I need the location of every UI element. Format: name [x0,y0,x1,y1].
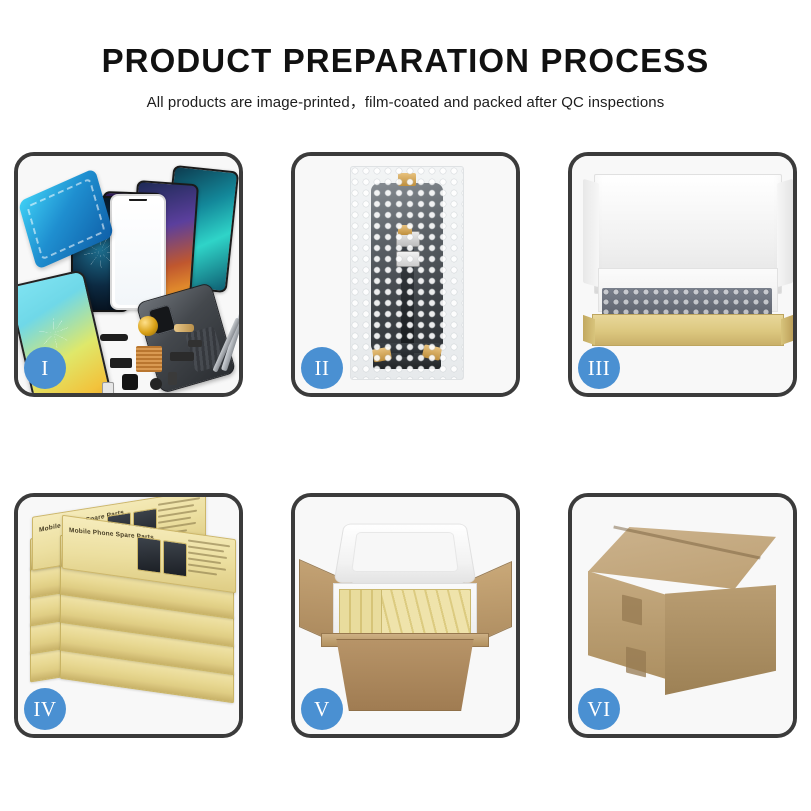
step-badge-4: IV [24,688,66,730]
speaker-part-icon [100,334,128,341]
bubble-texture-overlay [351,167,463,379]
page-title: PRODUCT PREPARATION PROCESS [0,44,811,79]
carton-right-face-icon [665,585,776,695]
sim-tray-part-icon [102,382,114,393]
camera-module-part-icon [122,374,138,390]
box-product-photo-front-2 [163,540,187,577]
bracket-part-icon [188,340,202,347]
carton-front-panel-icon [327,639,483,711]
process-step-panel-3: III [568,152,797,397]
phone-back-housing-icon [136,282,237,393]
step-badge-1: I [24,347,66,389]
process-step-panel-4: Mobile Phone Spare Parts Mobile Phone Sp… [14,493,243,738]
foam-lid-icon [333,524,476,583]
step-badge-5: V [301,688,343,730]
process-step-panel-1: I [14,152,243,397]
box-spec-lines-front [188,539,230,585]
page-subtitle: All products are image-printed，film-coat… [0,91,811,112]
carton-tape-lower-icon [626,647,646,678]
step-badge-6: VI [578,688,620,730]
kraft-box-base-icon [592,314,784,346]
camera-lens-part-icon [138,316,158,336]
flex-cable-part-icon [110,358,132,368]
process-step-panel-6: VI [568,493,797,738]
antenna-part-icon [170,352,194,361]
process-step-panel-5: V [291,493,520,738]
screw-part-icon [168,372,177,385]
process-step-panel-2: II [291,152,520,397]
retail-box-stack: Mobile Phone Spare Parts Mobile Phone Sp… [30,517,234,723]
carton-tape-upper-icon [622,595,642,626]
step-badge-2: II [301,347,343,389]
button-part-icon [150,378,162,390]
step-badge-3: III [578,347,620,389]
bubble-wrap-bag-icon [350,166,464,380]
product-preparation-process-page: PRODUCT PREPARATION PROCESS All products… [0,0,811,811]
connector-part-icon [174,324,194,332]
process-steps-grid: I II [14,152,797,738]
page-header: PRODUCT PREPARATION PROCESS All products… [0,0,811,112]
screen-glass-panel-icon [110,194,166,310]
logic-board-part-icon [136,346,162,372]
box-product-photo-front-1 [137,536,161,573]
